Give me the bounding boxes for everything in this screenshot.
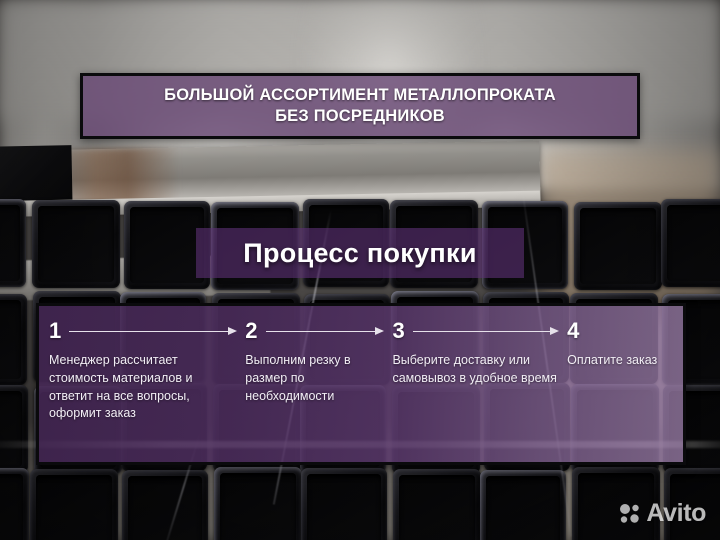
header-line-1: БОЛЬШОЙ АССОРТИМЕНТ МЕТАЛЛОПРОКАТА <box>164 85 556 106</box>
process-step-2: 2 Выполним резку в размер по необходимос… <box>245 318 392 452</box>
section-title-banner: Процесс покупки <box>196 228 524 278</box>
step-2-header: 2 <box>245 318 384 344</box>
step-3-number: 3 <box>392 320 412 342</box>
step-3-arrow-icon <box>413 326 559 336</box>
step-2-arrow-icon <box>266 326 385 336</box>
step-2-text: Выполним резку в размер по необходимости <box>245 352 384 405</box>
step-1-arrow-icon <box>69 326 237 336</box>
avito-watermark: Avito <box>619 499 706 528</box>
process-step-1: 1 Менеджер рассчитает стоимость материал… <box>49 318 245 452</box>
step-3-text: Выберите доставку или самовывоз в удобно… <box>392 352 559 388</box>
process-step-4: 4 Оплатите заказ <box>567 318 675 452</box>
avito-dots-logo-icon <box>619 503 641 525</box>
header-text: БОЛЬШОЙ АССОРТИМЕНТ МЕТАЛЛОПРОКАТА БЕЗ П… <box>164 85 556 127</box>
step-2-number: 2 <box>245 320 265 342</box>
avito-wordmark: Avito <box>646 499 706 528</box>
step-3-header: 3 <box>392 318 559 344</box>
step-4-header: 4 <box>567 318 675 344</box>
process-steps-panel: 1 Менеджер рассчитает стоимость материал… <box>36 303 686 465</box>
header-line-2: БЕЗ ПОСРЕДНИКОВ <box>164 106 556 127</box>
step-4-number: 4 <box>567 320 587 342</box>
header-banner: БОЛЬШОЙ АССОРТИМЕНТ МЕТАЛЛОПРОКАТА БЕЗ П… <box>80 73 640 139</box>
step-1-header: 1 <box>49 318 237 344</box>
step-4-text: Оплатите заказ <box>567 352 675 370</box>
step-1-number: 1 <box>49 320 69 342</box>
step-1-text: Менеджер рассчитает стоимость материалов… <box>49 352 237 423</box>
section-title: Процесс покупки <box>243 238 476 269</box>
process-step-3: 3 Выберите доставку или самовывоз в удоб… <box>392 318 567 452</box>
